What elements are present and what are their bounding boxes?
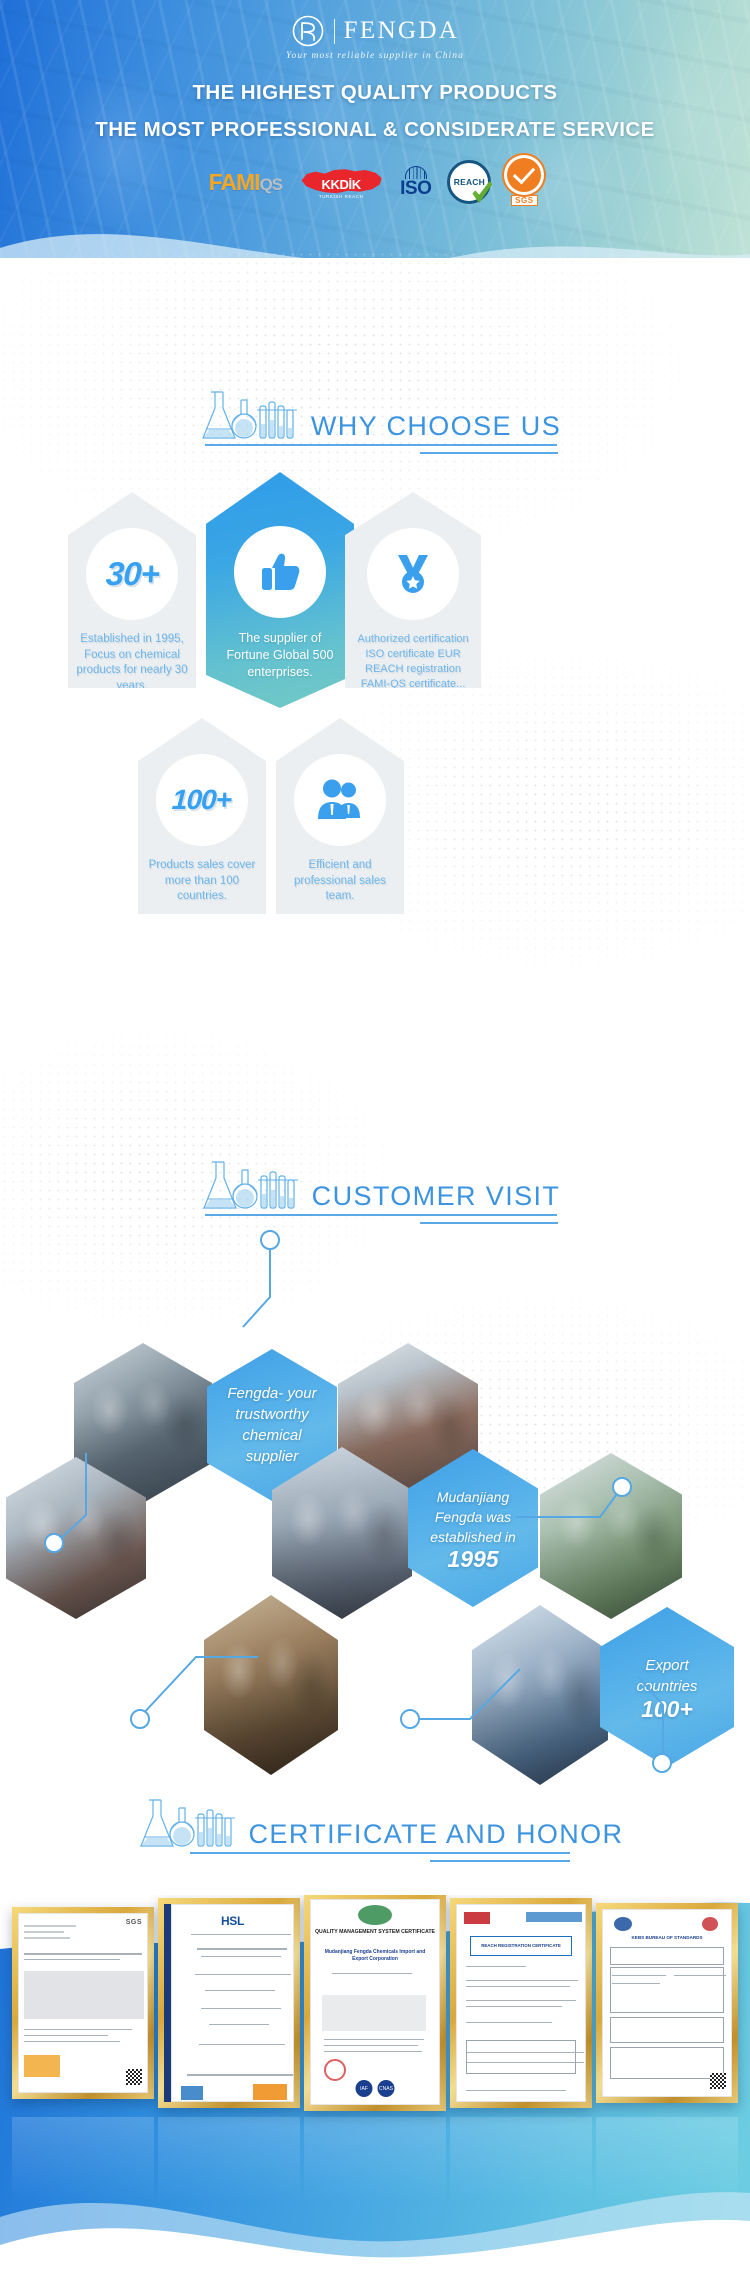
connector-node — [44, 1533, 64, 1553]
connector-node — [612, 1477, 632, 1497]
brand-tagline: Your most reliable supplier in China — [0, 51, 750, 61]
hero-banner: FENGDA Your most reliable supplier in Ch… — [0, 0, 750, 258]
certificate-showcase: SGS HSL — [0, 1895, 750, 2271]
certificate-bureau-of-standards[interactable]: KEBS BUREAU OF STANDARDS — [596, 1903, 738, 2103]
section-title: CUSTOMER VISIT — [312, 1181, 561, 1216]
customer-visit-collage: Fengda- your trustworthy chemical suppli… — [0, 1225, 750, 1785]
section-title: WHY CHOOSE US — [311, 411, 561, 446]
connector-node — [652, 1753, 672, 1773]
kkdik-badge: KKDİK TURKISH REACH — [298, 160, 384, 204]
lab-glassware-icon — [190, 1156, 306, 1216]
fengda-monogram-icon — [291, 14, 325, 48]
section-header-certificate-and-honor: CERTIFICATE AND HONOR — [0, 1790, 750, 1854]
lab-glassware-icon — [127, 1794, 243, 1854]
certification-badge-row: FAMIQS KKDİK TURKISH REACH ISO REACH — [0, 159, 750, 205]
why-card-text: Efficient and professional sales team. — [281, 858, 399, 905]
section-header-customer-visit: CUSTOMER VISIT — [0, 1152, 750, 1216]
check-circle-icon — [507, 158, 541, 192]
iso-badge: ISO — [400, 160, 431, 204]
connector-node — [260, 1230, 280, 1250]
connector-node — [130, 1709, 150, 1729]
certificate-reflections — [0, 2117, 750, 2203]
connector-node — [400, 1709, 420, 1729]
certificate-reach-registration[interactable]: REACH REGISTRATION CERTIFICATE — [450, 1898, 592, 2108]
connector-lines — [0, 1225, 750, 1785]
sgs-badge: SGS — [507, 160, 541, 204]
brand-logo: FENGDA — [0, 0, 750, 48]
reach-badge: REACH — [447, 160, 491, 204]
people-icon — [294, 754, 386, 846]
thumbs-up-icon — [234, 526, 326, 618]
globe-icon — [358, 1905, 392, 1925]
certificate-quality-management-system[interactable]: QUALITY MANAGEMENT SYSTEM CERTIFICATE Mu… — [304, 1895, 446, 2111]
certificate-hsl-report[interactable]: HSL — [158, 1898, 300, 2108]
why-card-text: Established in 1995, Focus on chemical p… — [73, 632, 191, 694]
why-card-text: Products sales cover more than 100 count… — [143, 858, 261, 905]
brand-name: FENGDA — [344, 17, 460, 45]
logo-divider — [334, 19, 335, 44]
section-header-why-choose-us: WHY CHOOSE US — [0, 382, 750, 446]
lab-glassware-icon — [189, 386, 305, 446]
certificate-sgs-test-report[interactable]: SGS — [12, 1907, 154, 2099]
why-card-text: The supplier of Fortune Global 500 enter… — [221, 630, 339, 681]
medal-icon — [367, 528, 459, 620]
why-card-text: Authorized certification ISO certificate… — [349, 632, 477, 692]
number-badge: 30+ — [86, 528, 178, 620]
accreditation-logos: IAFCNAS — [356, 2080, 395, 2097]
fami-qs-badge: FAMIQS — [209, 160, 283, 204]
headline-primary: THE HIGHEST QUALITY PRODUCTS — [0, 81, 750, 105]
number-badge: 100+ — [156, 754, 248, 846]
headline-secondary: THE MOST PROFESSIONAL & CONSIDERATE SERV… — [0, 118, 750, 142]
red-seal-stamp — [324, 2059, 346, 2081]
certificate-row: SGS HSL — [0, 1907, 750, 2117]
section-title: CERTIFICATE AND HONOR — [249, 1819, 624, 1854]
